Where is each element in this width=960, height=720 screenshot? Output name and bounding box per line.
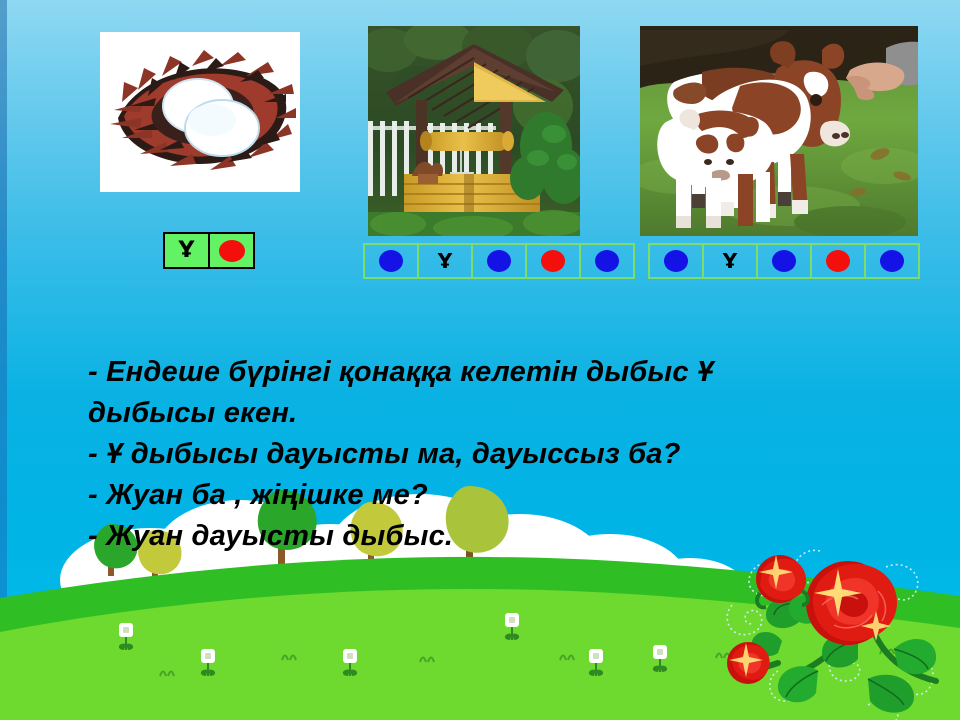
letter-u-glyph: Ұ: [179, 240, 195, 262]
vowel-dot-red-icon: [219, 240, 245, 262]
scheme-cell-dot[interactable]: [756, 243, 812, 279]
picture-nest-with-eggs: [100, 32, 300, 192]
sound-scheme-calves[interactable]: Ұ: [648, 243, 920, 279]
scheme-cell-dot[interactable]: [363, 243, 419, 279]
scheme-cell-letter[interactable]: Ұ: [417, 243, 473, 279]
scheme-cell-dot[interactable]: [471, 243, 527, 279]
letter-u-glyph: Ұ: [723, 251, 737, 271]
scheme-cell-dot[interactable]: [648, 243, 704, 279]
sound-scheme-well[interactable]: Ұ: [363, 243, 635, 279]
text-line-1: - Ендеше бүрінгі қонаққа келетін дыбыс Ұ…: [88, 352, 808, 434]
scheme-cell-dot[interactable]: [208, 232, 255, 269]
sound-scheme-nest[interactable]: Ұ: [163, 232, 255, 269]
scheme-cell-dot[interactable]: [810, 243, 866, 279]
vowel-dot-red-icon: [541, 250, 565, 272]
slide-canvas: Ұ Ұ Ұ: [0, 0, 960, 720]
picture-wooden-well: [368, 26, 580, 236]
consonant-dot-blue-icon: [595, 250, 619, 272]
vowel-dot-red-icon: [826, 250, 850, 272]
consonant-dot-blue-icon: [664, 250, 688, 272]
text-line-3: - Жуан ба , жіңішке ме?: [88, 475, 938, 516]
text-line-2: - Ұ дыбысы дауысты ма, дауыссыз ба?: [88, 434, 938, 475]
consonant-dot-blue-icon: [772, 250, 796, 272]
picture-calves-in-field: [640, 26, 918, 236]
consonant-dot-blue-icon: [880, 250, 904, 272]
lesson-text-block: - Ендеше бүрінгі қонаққа келетін дыбыс Ұ…: [88, 352, 938, 557]
decoration-red-roses: [718, 545, 960, 720]
consonant-dot-blue-icon: [379, 250, 403, 272]
scheme-cell-dot[interactable]: [864, 243, 920, 279]
scheme-cell-dot[interactable]: [579, 243, 635, 279]
consonant-dot-blue-icon: [487, 250, 511, 272]
scheme-cell-letter[interactable]: Ұ: [702, 243, 758, 279]
scheme-cell-dot[interactable]: [525, 243, 581, 279]
text-line-4: - Жуан дауысты дыбыс.: [88, 516, 938, 557]
letter-u-glyph: Ұ: [438, 251, 452, 271]
scheme-cell-letter[interactable]: Ұ: [163, 232, 210, 269]
